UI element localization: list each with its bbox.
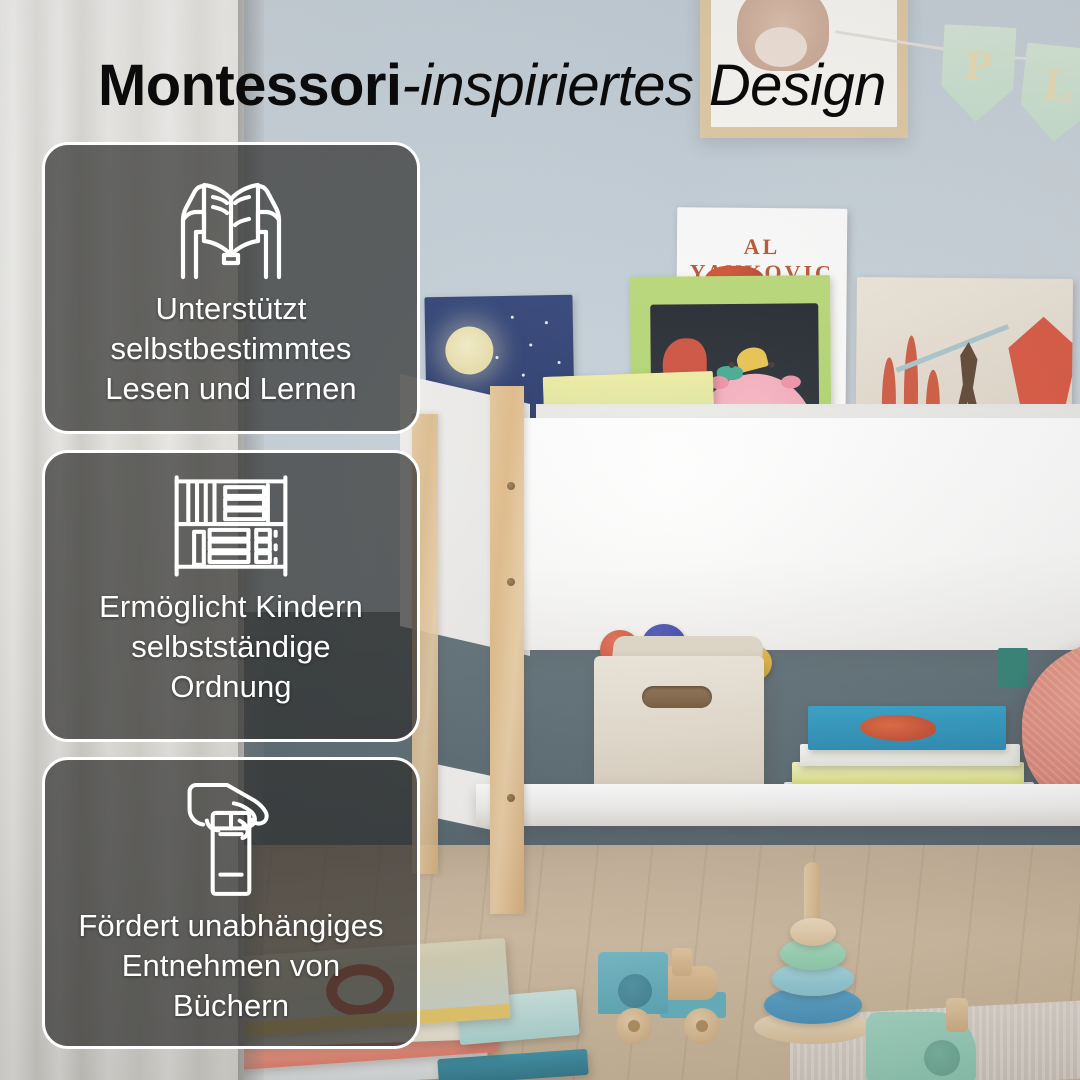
feature-card-tidiness[interactable]: Ermöglicht Kindern selbstständige Ordnun… bbox=[42, 450, 420, 742]
shape-toy-hole bbox=[924, 1040, 960, 1076]
feature-card-text: Fördert unabhängiges Entnehmen von Büche… bbox=[62, 906, 399, 1026]
moon-graphic bbox=[445, 326, 494, 375]
feature-card-reading[interactable]: Unterstützt selbstbestimmtes Lesen und L… bbox=[42, 142, 420, 434]
bookshelf-icon bbox=[165, 471, 297, 581]
page-title: Montessori-inspiriertes Design bbox=[98, 44, 1018, 128]
lower-shelf-board bbox=[476, 784, 1080, 826]
montessori-bookshelf: Cinderella AL YANKOVIC en I ow bbox=[386, 386, 1080, 916]
shape-toy-peg bbox=[946, 998, 968, 1032]
open-book-in-hands-icon bbox=[165, 167, 297, 283]
headline-bold-part: Montessori bbox=[98, 53, 401, 118]
train-chimney bbox=[672, 948, 692, 976]
train-window bbox=[618, 974, 652, 1008]
headline-italic-part: -inspiriertes Design bbox=[401, 53, 885, 118]
feature-card-independence[interactable]: Fördert unabhängiges Entnehmen von Büche… bbox=[42, 757, 420, 1049]
wooden-shape-toy bbox=[866, 1002, 1006, 1080]
product-feature-banner: P L Cinderella AL YANKOVIC en I ow bbox=[0, 0, 1080, 1080]
wooden-toy-train bbox=[598, 948, 746, 1044]
stacking-ring-toy bbox=[752, 862, 872, 1046]
feature-card-text: Unterstützt selbstbestimmtes Lesen und L… bbox=[89, 289, 373, 409]
red-leaf-graphic bbox=[1008, 316, 1073, 407]
wooden-post-front bbox=[490, 386, 524, 914]
hand-taking-book-icon bbox=[165, 772, 297, 904]
trough-front-panel bbox=[518, 418, 1080, 650]
feature-card-text: Ermöglicht Kindern selbstständige Ordnun… bbox=[83, 587, 379, 707]
book-teal-edge bbox=[998, 648, 1028, 688]
book-blue-cover bbox=[808, 706, 1006, 750]
